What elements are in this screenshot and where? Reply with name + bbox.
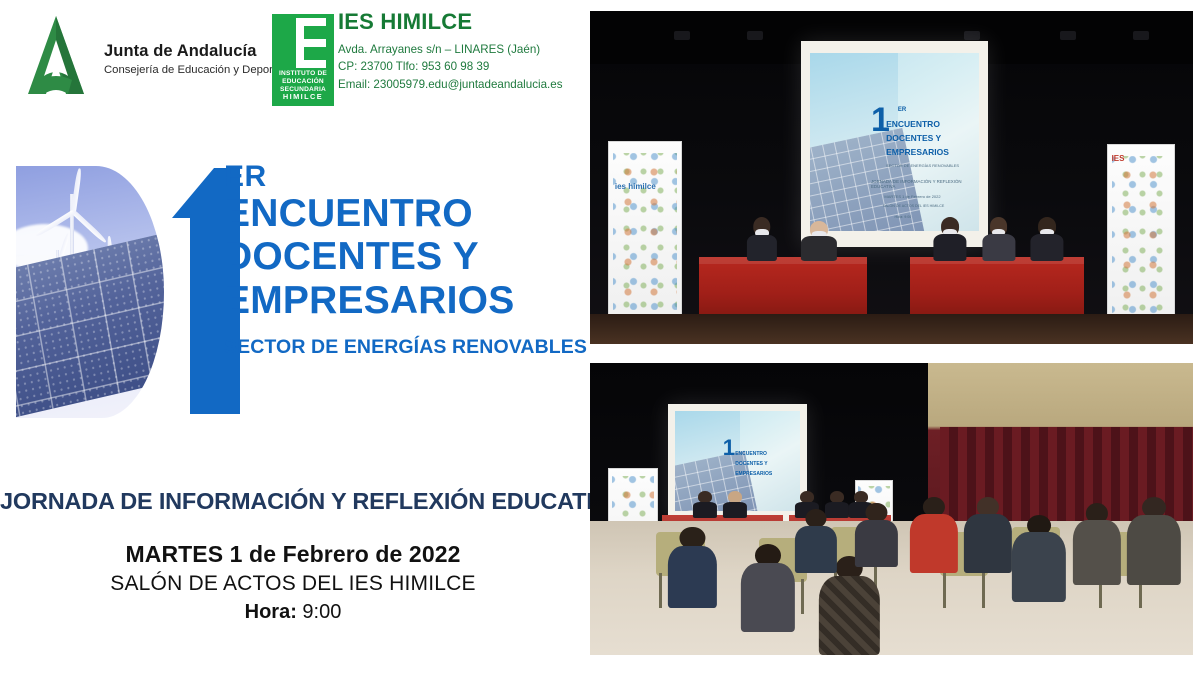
renewable-energy-photo [16,166,164,418]
event-info-block: JORNADA DE INFORMACIÓN Y REFLEXIÓN EDUCA… [0,488,586,624]
slide-line-1: ENCUENTRO [886,119,940,129]
projected-slide: 1 ER ENCUENTRO DOCENTES Y EMPRESARIOS SE… [810,53,978,231]
audience-member [964,497,1012,573]
panelist [747,217,777,260]
event-time-label: Hora: [245,601,297,623]
hero-line-1: ENCUENTRO [224,192,584,235]
panelist [723,491,747,517]
himilce-logo-line-1: INSTITUTO DE [275,70,331,78]
stage-panel-photo: 1 ER ENCUENTRO DOCENTES Y EMPRESARIOS SE… [590,11,1193,344]
hero-text-block: ER ENCUENTRO DOCENTES Y EMPRESARIOS SECT… [224,162,584,359]
audience-member [795,509,837,573]
junta-de-andalucia-logo-block: Junta de Andalucía Consejería de Educaci… [18,14,268,100]
hero-line-2: DOCENTES Y [224,235,584,278]
slide-line-2-small: DOCENTES Y [735,461,767,467]
hero-line-3: EMPRESARIOS [224,279,584,322]
header-logos: Junta de Andalucía Consejería de Educaci… [0,0,586,112]
panelist [801,221,837,261]
panelist [982,217,1015,260]
rollup-banner-right-text: IES [1112,154,1125,163]
rollup-banner-right: IES [1107,144,1175,329]
audience-member [1012,515,1066,603]
slide-subtitle: SECTOR DE ENERGÍAS RENOVABLES [886,163,959,168]
slide-venue: SALÓN DE ACTOS DEL IES HIMILCE [883,204,945,208]
slide-date: MARTES 1 de Febrero de 2022 [884,194,940,199]
rollup-banner-left-text: ies himilce [615,182,656,191]
slide-line-1-small: ENCUENTRO [735,451,767,457]
event-time: Hora: 9:00 [0,601,586,624]
audience-member [910,497,958,573]
himilce-email: Email: 23005979.edu@juntadeandalucia.es [338,76,584,93]
junta-subtitle: Consejería de Educación y Deporte [104,63,270,77]
audience-member [1127,497,1181,585]
panelist [934,217,967,260]
panelist [1030,217,1063,260]
audience-member [668,527,716,609]
event-time-value: 9:00 [302,601,341,623]
audience-member [1072,503,1120,585]
rollup-banner-left: ies himilce [608,141,682,326]
junta-andalucia-green-a-logo-icon [18,14,94,98]
hero-subtitle: SECTOR DE ENERGÍAS RENOVABLES [224,336,584,359]
slide-time: Hora: 9:00 [895,215,912,219]
poster-root: Junta de Andalucía Consejería de Educaci… [0,0,1200,675]
himilce-postal-phone: CP: 23700 Tlfo: 953 60 98 39 [338,58,584,75]
himilce-logo-line-4: HIMILCE [275,93,331,102]
audience-member [741,544,795,632]
left-column: Junta de Andalucía Consejería de Educaci… [0,0,586,675]
panelist [693,491,717,517]
slide-ordinal: ER [898,107,906,113]
himilce-contact-block: IES HIMILCE Avda. Arrayanes s/n – LINARE… [338,10,584,93]
slide-jornada: JORNADA DE INFORMACIÓN Y REFLEXIÓN EDUCA… [871,179,979,189]
slide-line-3-small: EMPRESARIOS [735,471,772,477]
audience-photo: 1 ENCUENTRO DOCENTES Y EMPRESARIOS [590,363,1193,655]
slide-numeral-small: 1 [723,439,735,457]
event-date: MARTES 1 de Febrero de 2022 [0,541,586,568]
slide-line-3: EMPRESARIOS [886,147,949,157]
himilce-h-glyph-icon [280,18,326,68]
junta-text-block: Junta de Andalucía Consejería de Educaci… [104,42,270,77]
projection-screen: 1 ER ENCUENTRO DOCENTES Y EMPRESARIOS SE… [801,41,988,247]
event-heading: JORNADA DE INFORMACIÓN Y REFLEXIÓN EDUCA… [0,488,586,515]
slide-line-2: DOCENTES Y [886,133,941,143]
audience-member [855,503,897,567]
himilce-logo-line-2: EDUCACIÓN [275,78,331,86]
ies-himilce-logo-block: INSTITUTO DE EDUCACIÓN SECUNDARIA HIMILC… [272,10,582,106]
himilce-name: IES HIMILCE [338,10,584,34]
junta-title: Junta de Andalucía [104,42,270,60]
hero-ordinal-suffix: ER [224,162,584,192]
himilce-address: Avda. Arrayanes s/n – LINARES (Jaén) [338,41,584,58]
hero-block: ER ENCUENTRO DOCENTES Y EMPRESARIOS SECT… [8,160,586,422]
event-venue: SALÓN DE ACTOS DEL IES HIMILCE [0,572,586,596]
ies-himilce-green-square-logo-icon: INSTITUTO DE EDUCACIÓN SECUNDARIA HIMILC… [272,14,334,106]
himilce-logo-caption: INSTITUTO DE EDUCACIÓN SECUNDARIA HIMILC… [275,70,331,102]
